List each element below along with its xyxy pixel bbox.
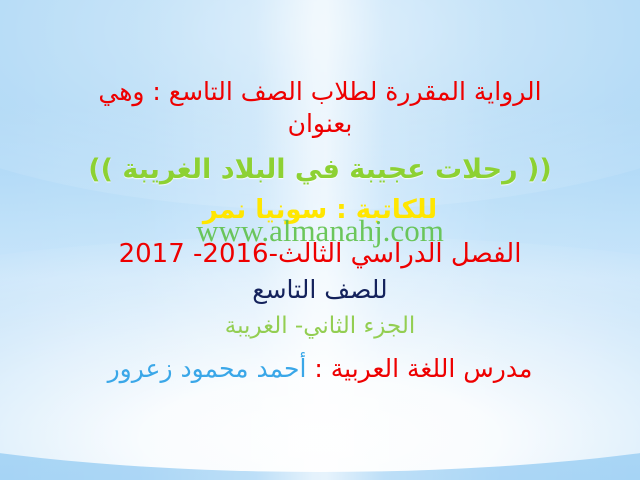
teacher-name: أحمد محمود زعرور (108, 354, 307, 383)
novel-title: (( رحلات عجيبة في البلاد الغريبة )) (0, 155, 640, 186)
teacher-label: مدرس اللغة العربية : (306, 354, 532, 383)
intro-line-1: الرواية المقررة لطلاب الصف التاسع : وهي (0, 78, 640, 107)
teacher-line: مدرس اللغة العربية : أحمد محمود زعرور (0, 355, 640, 384)
intro-line-2: بعنوان (0, 110, 640, 139)
presentation-slide: الرواية المقررة لطلاب الصف التاسع : وهي … (0, 0, 640, 480)
part-line: الجزء الثاني- الغريبة (0, 313, 640, 339)
grade-line: للصف التاسع (0, 276, 640, 305)
site-watermark: www.almanahj.com (0, 213, 640, 249)
